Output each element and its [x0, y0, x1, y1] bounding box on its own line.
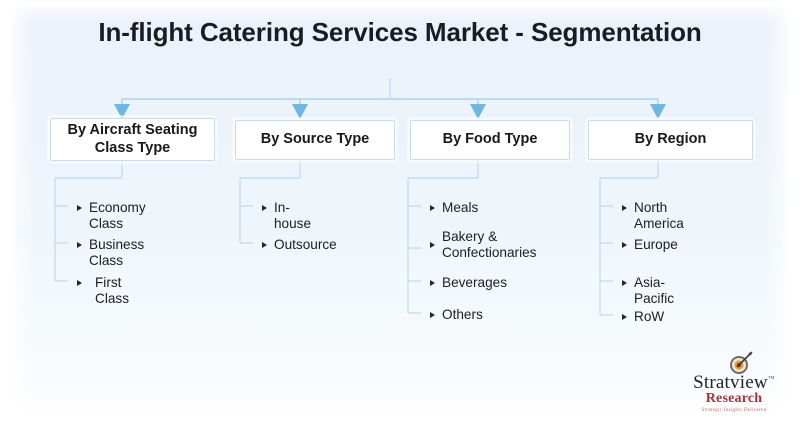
arrow-bullet-icon	[262, 242, 267, 248]
leaf-item-label: Asia-Pacific	[634, 275, 674, 307]
arrow-bullet-icon	[430, 280, 435, 286]
leaf-item-label: Business Class	[89, 237, 144, 269]
leaf-item[interactable]: Economy Class	[77, 200, 146, 232]
leaf-item[interactable]: In-house	[262, 200, 311, 232]
leaf-item-label: In-house	[274, 200, 311, 232]
arrow-bullet-icon	[77, 280, 82, 286]
category-box-region[interactable]: By Region	[588, 120, 753, 160]
arrow-bullet-icon	[622, 314, 627, 320]
leaf-item-label: Economy Class	[89, 200, 146, 232]
arrow-bullet-icon	[622, 205, 627, 211]
logo-name: Stratview	[693, 372, 768, 393]
arrow-bullet-icon	[622, 280, 627, 286]
arrow-bullet-icon	[77, 242, 82, 248]
leaf-item[interactable]: North America	[622, 200, 684, 232]
page-title: In-flight Catering Services Market - Seg…	[90, 16, 710, 49]
leaf-item[interactable]: Europe	[622, 237, 678, 253]
leaf-item-label: Europe	[634, 237, 678, 253]
category-box-food-type[interactable]: By Food Type	[410, 120, 570, 160]
arrow-bullet-icon	[77, 205, 82, 211]
infographic-root: In-flight Catering Services Market - Seg…	[0, 0, 800, 434]
leaf-item-label: Others	[442, 307, 483, 323]
leaf-item[interactable]: First Class	[77, 275, 129, 307]
leaf-item-label: North America	[634, 200, 684, 232]
leaf-item[interactable]: Meals	[430, 200, 478, 216]
leaf-item[interactable]: Asia-Pacific	[622, 275, 674, 307]
logo-subtitle: Research	[682, 391, 786, 407]
brand-logo[interactable]: Stratview™ Research Strategic Insights D…	[682, 352, 786, 416]
leaf-item[interactable]: RoW	[622, 309, 664, 325]
arrow-bullet-icon	[262, 205, 267, 211]
arrow-bullet-icon	[430, 312, 435, 318]
leaf-item[interactable]: Beverages	[430, 275, 507, 291]
leaf-item-label: Bakery & Confectionaries	[442, 229, 536, 261]
leaf-item-label: Meals	[442, 200, 478, 216]
leaf-item-label: RoW	[634, 309, 664, 325]
logo-tagline: Strategic Insights Delivered	[682, 407, 786, 413]
category-box-source-type[interactable]: By Source Type	[235, 120, 395, 160]
leaf-item-label: Beverages	[442, 275, 507, 291]
leaf-item[interactable]: Outsource	[262, 237, 337, 253]
leaf-item[interactable]: Business Class	[77, 237, 144, 269]
leaf-item-label: First Class	[95, 275, 129, 307]
category-box-aircraft-seating-class-type[interactable]: By Aircraft Seating Class Type	[50, 118, 215, 161]
logo-trademark: ™	[768, 375, 775, 383]
leaf-item[interactable]: Bakery & Confectionaries	[430, 229, 536, 261]
arrow-bullet-icon	[430, 205, 435, 211]
arrow-bullet-icon	[622, 242, 627, 248]
leaf-item-label: Outsource	[274, 237, 337, 253]
arrow-bullet-icon	[430, 242, 435, 248]
leaf-item[interactable]: Others	[430, 307, 483, 323]
